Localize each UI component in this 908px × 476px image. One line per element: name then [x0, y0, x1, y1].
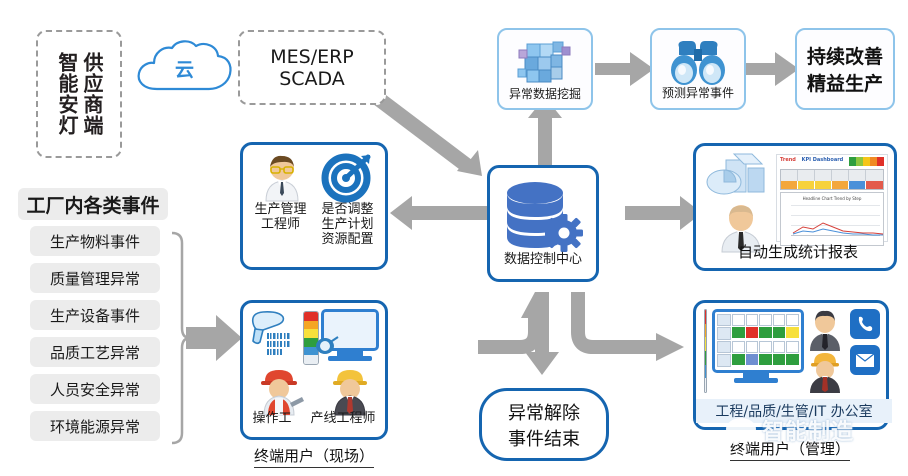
decision-line2: 生产计划 — [317, 218, 379, 233]
supplier-box-line2: 智能安灯 — [55, 52, 78, 136]
continuous-improvement-box[interactable]: 持续改善 精益生产 — [795, 28, 895, 110]
engineer-role-label: 生产管理 工程师 — [250, 203, 312, 248]
cloud-node[interactable]: 云 — [133, 37, 236, 99]
mining-label: 异常数据挖掘 — [509, 88, 581, 102]
supplier-andon-box[interactable]: 智能安灯 供应商端 — [36, 30, 122, 158]
event-item-2[interactable]: 生产设备事件 — [30, 300, 160, 330]
arrow-mes-to-datacenter — [373, 92, 482, 176]
decision-line3: 资源配置 — [317, 233, 379, 248]
field-caption-wrap: 终端用户（现场） — [232, 444, 396, 468]
data-control-center-box[interactable]: 数据控制中心 — [487, 165, 599, 282]
chart-shapes-icon — [704, 152, 778, 204]
monitor-base — [328, 356, 372, 361]
improve-line1: 持续改善 — [807, 42, 883, 69]
arrow-events-to-field — [186, 315, 242, 361]
cloud-label: 云 — [175, 55, 194, 82]
anomaly-resolved-box[interactable]: 异常解除 事件结束 — [479, 388, 609, 461]
line-engineer-avatar-icon — [323, 367, 377, 415]
production-engineer-box[interactable]: 生产管理 工程师 是否调整 生产计划 资源配置 — [240, 142, 388, 270]
events-panel-header: 工厂内各类事件 — [18, 188, 168, 220]
anomaly-mining-box[interactable]: 异常数据挖掘 — [497, 28, 593, 110]
event-item-3[interactable]: 品质工艺异常 — [30, 337, 160, 367]
mouse-icon — [315, 335, 339, 355]
barcode-scanner-icon — [249, 309, 301, 361]
engineer-role-line2: 工程师 — [250, 218, 312, 233]
mes-line1: MES/ERP — [270, 46, 354, 68]
factory-events-panel: 工厂内各类事件 生产物料事件 质量管理异常 生产设备事件 品质工艺异常 人员安全… — [14, 188, 179, 468]
mail-icon[interactable] — [850, 345, 880, 375]
dashboard-monitor-icon — [712, 309, 800, 383]
arrow-datacenter-to-engineer — [390, 196, 487, 230]
engineer-role-line1: 生产管理 — [250, 203, 312, 218]
data-cube-icon — [515, 36, 575, 88]
report-thumbnail-icon: Trend KPI Dashboard — [776, 154, 888, 242]
arrow-datacenter-to-report — [625, 196, 702, 230]
manager-avatar-icon — [805, 309, 845, 351]
target-icon — [321, 153, 373, 201]
report-label: 自动生成统计报表 — [696, 241, 900, 262]
auto-report-box[interactable]: Trend KPI Dashboard — [693, 143, 897, 271]
supplier-box-line1: 供应商端 — [80, 52, 103, 136]
arrow-mining-to-predict — [595, 52, 654, 86]
office-caption-wrap: 终端用户（管理） — [690, 436, 890, 462]
diagram-canvas: 智能安灯 供应商端 云 MES/ERP SCADA 工厂内各类事件 生产物料事件… — [0, 0, 908, 476]
improve-line2: 精益生产 — [807, 69, 883, 96]
andon-light-icon — [704, 309, 707, 393]
data-center-label: 数据控制中心 — [504, 253, 582, 268]
supervisor-avatar-icon — [805, 351, 845, 393]
mes-line2: SCADA — [279, 68, 345, 90]
decision-label: 是否调整 生产计划 资源配置 — [317, 203, 379, 248]
arrow-predict-to-improve — [745, 52, 799, 86]
office-terminal-box[interactable]: 工程/品质/生管/IT 办公室 — [693, 300, 889, 430]
decision-line1: 是否调整 — [317, 203, 379, 218]
mes-erp-scada-box[interactable]: MES/ERP SCADA — [238, 30, 386, 105]
event-item-0[interactable]: 生产物料事件 — [30, 226, 160, 256]
database-icon — [501, 180, 585, 252]
operator-avatar-icon — [252, 367, 306, 415]
field-terminal-box[interactable]: 操作工 产线工程师 — [240, 300, 388, 440]
predict-label: 预测异常事件 — [662, 87, 734, 101]
resolved-line2: 事件结束 — [508, 425, 580, 451]
field-role-1: 操作工 — [252, 412, 291, 427]
wechat-icon — [726, 418, 756, 440]
arrow-datacenter-to-office — [578, 292, 684, 361]
predict-anomaly-box[interactable]: 预测异常事件 — [650, 28, 746, 110]
engineer-avatar-icon — [256, 153, 308, 201]
field-role-2: 产线工程师 — [310, 412, 375, 427]
phone-icon[interactable] — [850, 309, 880, 339]
event-item-4[interactable]: 人员安全异常 — [30, 374, 160, 404]
office-inner-caption: 工程/品质/生管/IT 办公室 — [696, 399, 892, 423]
office-caption: 终端用户（管理） — [730, 438, 850, 461]
gear-icon — [545, 214, 583, 252]
resolved-line1: 异常解除 — [508, 399, 580, 425]
binoculars-icon — [667, 37, 729, 87]
event-item-5[interactable]: 环境能源异常 — [30, 411, 160, 441]
event-item-1[interactable]: 质量管理异常 — [30, 263, 160, 293]
field-caption: 终端用户（现场） — [254, 445, 374, 468]
